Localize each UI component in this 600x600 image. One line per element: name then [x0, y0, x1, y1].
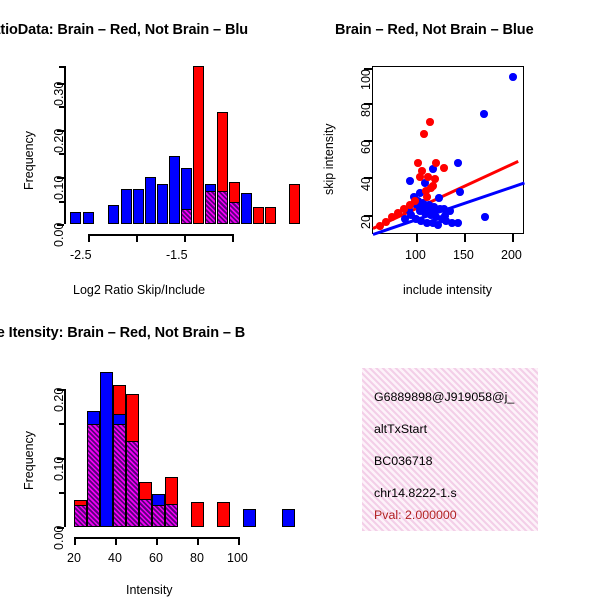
- panel2-xtick-label-0: 100: [405, 248, 426, 262]
- scatter-point-notbrain: [480, 110, 488, 118]
- panel2-xlabel: include intensity: [403, 283, 492, 297]
- panel3-xtick-label-0: 20: [67, 551, 81, 565]
- bar-overlap: [126, 441, 139, 527]
- bar-overlap: [217, 191, 228, 224]
- scatter-point-notbrain: [481, 213, 489, 221]
- scatter-point-notbrain: [454, 219, 462, 227]
- panel3-xtick-label-3: 80: [190, 551, 204, 565]
- panel1-xtick-3: [232, 234, 234, 242]
- bar-brain: [253, 207, 264, 224]
- panel2-xtick-label-2: 200: [501, 248, 522, 262]
- bar-notbrain: [121, 189, 132, 224]
- panel2-title: Brain – Red, Not Brain – Blue: [335, 22, 534, 38]
- scatter-point-brain: [432, 159, 440, 167]
- bar-brain: [191, 502, 204, 527]
- panel1-title: RatioData: Brain – Red, Not Brain – Blu: [0, 22, 248, 38]
- panel2-xtick-label-1: 150: [453, 248, 474, 262]
- bar-notbrain: [100, 372, 113, 527]
- bar-overlap: [113, 424, 126, 527]
- coordinate-text: chr14.8222-1.s: [374, 486, 538, 500]
- panel3-xtick-label-4: 100: [227, 551, 248, 565]
- bar-overlap: [74, 505, 87, 527]
- bar-overlap: [87, 424, 100, 527]
- bar-notbrain: [243, 509, 256, 527]
- scatter-point-brain: [414, 159, 422, 167]
- bar-overlap: [229, 202, 240, 224]
- scatter-point-notbrain: [454, 159, 462, 167]
- panel3-ylabel: Frequency: [22, 431, 36, 490]
- event-type-text: altTxStart: [374, 422, 538, 436]
- bar-overlap: [139, 499, 152, 527]
- panel3-plot-area: [66, 372, 246, 527]
- panel1-ytick-minor-2: [59, 153, 64, 155]
- panel1-xtick-label-0: -2.5: [70, 248, 92, 262]
- scatter-point-brain: [420, 130, 428, 138]
- panel3-xtick-0: [74, 537, 76, 545]
- panel1-xaxis-line: [88, 234, 234, 236]
- panel3-ytick-label-0: 0.00: [52, 526, 66, 550]
- scatter-point-brain: [416, 173, 424, 181]
- bar-brain: [193, 66, 204, 224]
- bar-notbrain: [145, 177, 156, 224]
- bar-notbrain: [133, 189, 144, 224]
- panel1-plot-area: [66, 66, 236, 224]
- gene-id-text: G6889898@J919058@j_: [374, 390, 538, 404]
- panel1-ytick-minor-3: [59, 106, 64, 108]
- scatter-point-brain: [431, 175, 439, 183]
- panel3-ytick-label-1: 0.10: [52, 457, 66, 481]
- panel3-xtick-3: [197, 537, 199, 545]
- panel1-xtick-label-1: -1.5: [166, 248, 188, 262]
- panel2-ytick-label-0: 20: [359, 215, 373, 229]
- panel3-xtick-label-1: 40: [108, 551, 122, 565]
- scatter-point-brain: [376, 222, 384, 230]
- panel1-ytick-label-3: 0.30: [52, 82, 66, 106]
- panel2-xtick-2: [512, 234, 514, 242]
- bar-notbrain: [108, 205, 119, 224]
- scatter-point-brain: [440, 164, 448, 172]
- bar-brain: [289, 184, 300, 224]
- scatter-point-brain: [423, 193, 431, 201]
- panel1-xtick-0: [88, 234, 90, 242]
- panel1-xtick-1: [136, 234, 138, 242]
- panel1-xtick-2: [184, 234, 186, 242]
- scatter-point-notbrain: [406, 177, 414, 185]
- scatter-point-notbrain: [456, 188, 464, 196]
- bar-overlap: [152, 505, 165, 527]
- panel2-ytick-label-1: 40: [359, 177, 373, 191]
- panel3-ytick-minor-2: [59, 423, 64, 425]
- scatter-point-brain: [426, 118, 434, 126]
- panel3-xtick-label-2: 60: [149, 551, 163, 565]
- scatter-point-notbrain: [434, 221, 442, 229]
- panel3-xlabel: Intensity: [126, 583, 173, 597]
- panel1-ytick-label-0: 0.00: [52, 223, 66, 247]
- bar-notbrain: [157, 184, 168, 224]
- gene-annotation-box: G6889898@J919058@j_ altTxStart BC036718 …: [362, 368, 538, 531]
- panel2-ylabel: skip intensity: [322, 123, 336, 195]
- panel1-ytick-minor-1: [59, 201, 64, 203]
- scatter-point-notbrain: [431, 206, 439, 214]
- bar-notbrain: [169, 156, 180, 224]
- panel3-ytick-minor-1: [59, 492, 64, 494]
- panel1-ytick-label-1: 0.10: [52, 176, 66, 200]
- panel3-ytick-label-2: 0.20: [52, 388, 66, 412]
- panel2-ytick-label-4: 100: [359, 69, 373, 90]
- panel1-ytick-label-2: 0.20: [52, 129, 66, 153]
- scatter-point-notbrain: [509, 73, 517, 81]
- panel1-ylabel: Frequency: [22, 131, 36, 190]
- scatter-point-notbrain: [401, 215, 409, 223]
- panel1-ytick-minor-4: [59, 66, 64, 68]
- bar-notbrain: [83, 212, 94, 224]
- panel2-xtick-0: [416, 234, 418, 242]
- panel2-xtick-1: [464, 234, 466, 242]
- bar-notbrain: [282, 509, 295, 527]
- scatter-point-notbrain: [441, 212, 449, 220]
- bar-overlap: [205, 191, 216, 224]
- scatter-point-notbrain: [435, 194, 443, 202]
- panel2-ytick-label-3: 80: [359, 103, 373, 117]
- panel2-plot-frame: [372, 66, 524, 234]
- panel3-xtick-2: [156, 537, 158, 545]
- panel2-ytick-label-2: 60: [359, 140, 373, 154]
- pval-text: Pval: 2.000000: [374, 508, 538, 522]
- accession-text: BC036718: [374, 454, 538, 468]
- bar-overlap: [165, 504, 178, 527]
- panel3-title: ne Itensity: Brain – Red, Not Brain – B: [0, 325, 245, 341]
- bar-overlap: [181, 209, 192, 224]
- panel3-xtick-4: [238, 537, 240, 545]
- bar-notbrain: [70, 212, 81, 224]
- bar-brain: [265, 207, 276, 224]
- panel3-xtick-1: [115, 537, 117, 545]
- bar-notbrain: [241, 193, 252, 224]
- bar-brain: [217, 502, 230, 527]
- panel1-xlabel: Log2 Ratio Skip/Include: [73, 283, 205, 297]
